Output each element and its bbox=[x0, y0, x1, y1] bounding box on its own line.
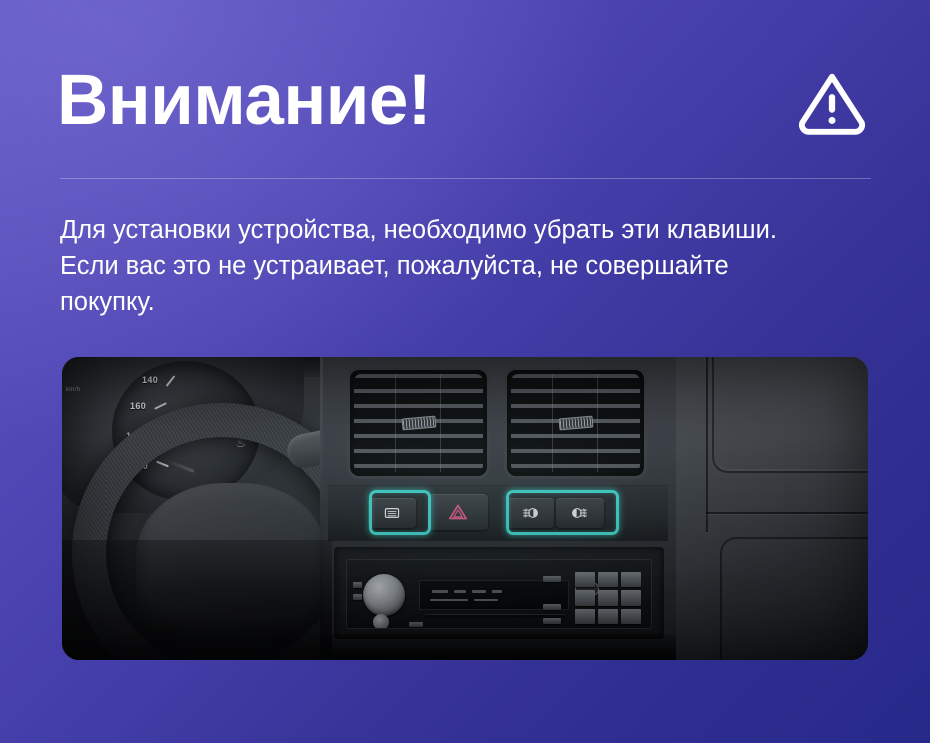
warning-message-line-3: покупку. bbox=[60, 284, 860, 320]
dashboard-photo: km/h 140 160 180 200 ⏴ ♨ bbox=[62, 357, 868, 660]
stereo-mode-button[interactable] bbox=[543, 576, 561, 582]
front-fog-light-button[interactable] bbox=[506, 498, 554, 528]
stereo-side-button[interactable] bbox=[353, 582, 362, 588]
hazard-triangle-icon bbox=[448, 503, 468, 521]
preset-button[interactable] bbox=[621, 590, 641, 605]
warning-triangle-icon bbox=[796, 66, 868, 138]
display-segment bbox=[474, 599, 498, 601]
airbag-lid-seam bbox=[712, 357, 868, 473]
speedometer-mark-160 bbox=[154, 402, 167, 409]
panel-seam bbox=[706, 512, 868, 514]
volume-knob[interactable] bbox=[363, 574, 405, 616]
warning-message-line-2: Если вас это не устраивает, пожалуйста, … bbox=[60, 248, 860, 284]
speedometer-tick-160: 160 bbox=[130, 401, 146, 411]
display-segment bbox=[492, 590, 502, 593]
vent-divider bbox=[597, 374, 598, 472]
rear-fog-light-button[interactable] bbox=[556, 498, 604, 528]
display-segment bbox=[430, 599, 468, 601]
glovebox-seam bbox=[720, 537, 868, 660]
speedometer-unit: km/h bbox=[66, 387, 80, 393]
rear-defroster-button[interactable] bbox=[368, 498, 416, 528]
speedometer-mark-140 bbox=[166, 375, 176, 386]
page-background: Внимание! Для установки устройства, необ… bbox=[0, 0, 930, 743]
warning-message-line-1: Для установки устройства, необходимо убр… bbox=[60, 212, 860, 248]
stereo-scan-button[interactable] bbox=[543, 618, 561, 624]
front-fog-lamp-icon bbox=[519, 506, 541, 520]
preset-button[interactable] bbox=[621, 572, 641, 587]
center-vent-left[interactable] bbox=[347, 367, 490, 479]
dashboard-button-strip bbox=[328, 485, 668, 541]
center-air-vents bbox=[347, 367, 647, 479]
display-segment bbox=[432, 590, 448, 593]
console-lower-shadow bbox=[320, 634, 676, 660]
header: Внимание! bbox=[57, 52, 873, 148]
stereo-band-button[interactable] bbox=[543, 604, 561, 610]
stereo-side-button[interactable] bbox=[353, 594, 362, 600]
passenger-airbag-panel bbox=[676, 357, 868, 660]
rear-defrost-icon bbox=[381, 506, 403, 520]
display-segment bbox=[454, 590, 466, 593]
header-divider bbox=[60, 178, 871, 179]
preset-button[interactable] bbox=[598, 572, 618, 587]
preset-button[interactable] bbox=[575, 609, 595, 624]
preset-button[interactable] bbox=[575, 590, 595, 605]
rear-fog-lamp-icon bbox=[569, 506, 591, 520]
display-segment bbox=[472, 590, 486, 593]
vent-slider[interactable] bbox=[401, 415, 436, 430]
hazard-lights-button[interactable] bbox=[428, 494, 488, 530]
vent-divider bbox=[552, 374, 553, 472]
vent-divider bbox=[440, 374, 441, 472]
secondary-knob[interactable] bbox=[373, 614, 389, 629]
page-title: Внимание! bbox=[57, 65, 431, 136]
preset-button[interactable] bbox=[621, 609, 641, 624]
stereo-preset-buttons[interactable] bbox=[575, 572, 641, 624]
vent-divider bbox=[395, 374, 396, 472]
head-unit-bezel bbox=[334, 547, 664, 639]
dashboard-scene: km/h 140 160 180 200 ⏴ ♨ bbox=[62, 357, 868, 660]
panel-seam bbox=[706, 357, 708, 532]
stereo-bottom-button[interactable] bbox=[409, 622, 423, 627]
vent-slider[interactable] bbox=[558, 415, 593, 430]
preset-button[interactable] bbox=[598, 590, 618, 605]
car-stereo[interactable] bbox=[346, 559, 652, 629]
preset-button[interactable] bbox=[575, 572, 595, 587]
lower-dash-shadow bbox=[62, 540, 332, 660]
warning-message: Для установки устройства, необходимо убр… bbox=[60, 212, 860, 320]
speedometer-tick-140: 140 bbox=[142, 375, 158, 385]
preset-button[interactable] bbox=[598, 609, 618, 624]
center-vent-right[interactable] bbox=[504, 367, 647, 479]
